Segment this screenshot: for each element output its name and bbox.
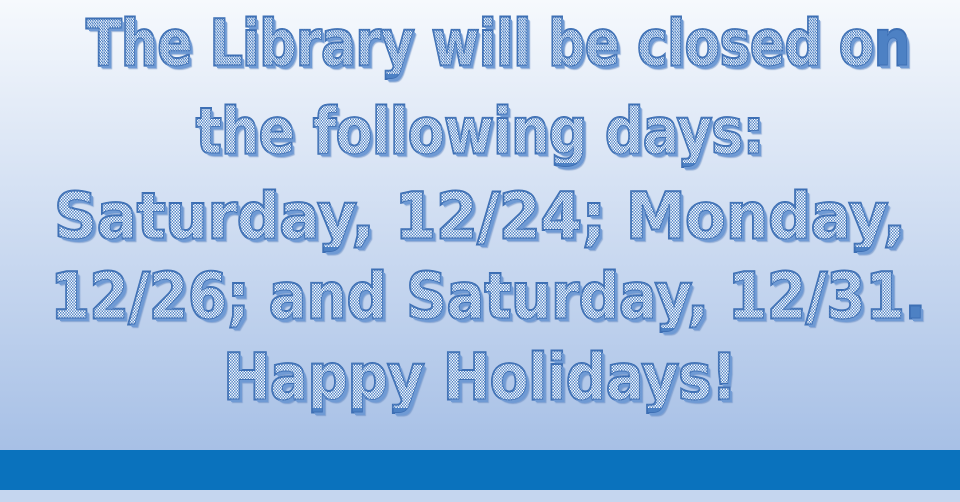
headline-text-block: The Library will be closed on The Librar… bbox=[0, 0, 960, 450]
headline-line-4-base: 12/26; and Saturday, 12/31. bbox=[51, 267, 910, 327]
headline-line-3: Saturday, 12/24; Monday, Saturday, 12/24… bbox=[0, 187, 960, 247]
headline-line-5: Happy Holidays! Happy Holidays! bbox=[0, 348, 960, 408]
accent-bar bbox=[0, 450, 960, 490]
headline-line-2: the following days: the following days: bbox=[0, 102, 960, 162]
bottom-strip bbox=[0, 490, 960, 502]
headline-line-1-base: The Library will be closed on bbox=[86, 14, 873, 74]
headline-line-4: 12/26; and Saturday, 12/31. 12/26; and S… bbox=[0, 267, 960, 327]
headline-line-5-base: Happy Holidays! bbox=[50, 348, 910, 408]
headline-line-2-base: the following days: bbox=[72, 102, 888, 162]
headline-line-3-base: Saturday, 12/24; Monday, bbox=[25, 187, 934, 247]
library-closure-poster: The Library will be closed on The Librar… bbox=[0, 0, 960, 502]
headline-line-1: The Library will be closed on The Librar… bbox=[0, 14, 960, 74]
